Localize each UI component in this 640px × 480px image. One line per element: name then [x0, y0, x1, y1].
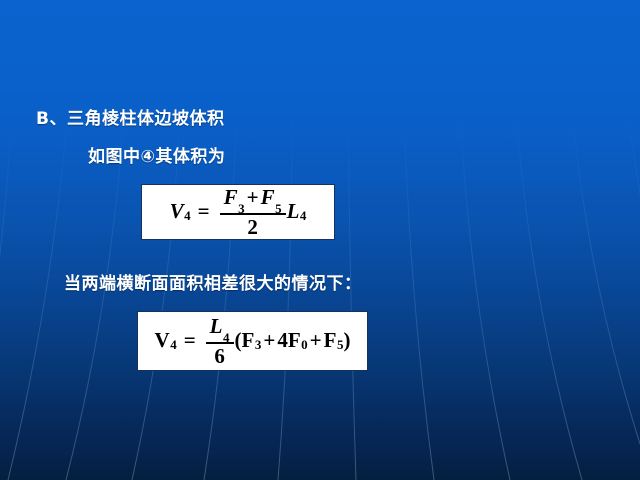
condition-heading: 当两端横断面面积相差很大的情况下：: [64, 269, 362, 294]
formula-1-expression: V4 = F3+F5 2 L4: [170, 186, 307, 238]
formula-2-num-variable: L: [210, 314, 223, 338]
formula-2-term3-variable: F: [324, 328, 337, 353]
formula-2-coefficient: 4: [277, 328, 288, 353]
formula-1-num-term2-variable: F: [261, 185, 275, 209]
formula-2-term2-subscript: 0: [301, 337, 308, 353]
formula-1-multiplier-subscript: 4: [300, 208, 307, 224]
formula-2-term2-variable: F: [288, 328, 301, 353]
formula-1-num-plus: +: [247, 185, 259, 209]
formula-box-volume-prismoidal: V4 = L4 6 (F3+4F0+F5): [137, 311, 368, 371]
formula-2-plus-2: +: [310, 328, 322, 353]
formula-2-expression: V4 = L4 6 (F3+4F0+F5): [155, 315, 351, 367]
formula-1-equals-sign: =: [198, 199, 210, 224]
formula-1-lhs-subscript: 4: [184, 208, 191, 224]
formula-1-denominator: 2: [243, 215, 262, 238]
formula-2-paren-close: ): [343, 328, 350, 353]
formula-2-term3-subscript: 5: [337, 337, 344, 353]
formula-1-lhs-variable: V: [170, 199, 184, 224]
formula-2-paren-open: (: [235, 328, 242, 353]
presentation-slide: B、三角棱柱体边坡体积 如图中④其体积为 V4 = F3+F5 2 L4 当两端…: [0, 0, 640, 480]
formula-1-num-term1-variable: F: [224, 185, 238, 209]
formula-1-multiplier-variable: L: [287, 199, 300, 224]
formula-2-equals-sign: =: [184, 328, 196, 353]
formula-2-num-subscript: 4: [223, 330, 230, 345]
formula-1-numerator: F3+F5: [220, 186, 286, 213]
subtitle-heading: 如图中④其体积为: [88, 142, 225, 167]
formula-1-num-term1-subscript: 3: [238, 201, 245, 216]
formula-1-fraction: F3+F5 2: [220, 186, 286, 238]
formula-2-term1-subscript: 3: [255, 337, 262, 353]
formula-2-lhs-variable: V: [155, 328, 170, 353]
formula-2-term1-variable: F: [242, 328, 255, 353]
formula-2-denominator: 6: [210, 344, 229, 367]
formula-1-num-term2-subscript: 5: [275, 201, 282, 216]
formula-2-plus-1: +: [263, 328, 275, 353]
formula-2-fraction: L4 6: [206, 315, 234, 367]
formula-2-lhs-subscript: 4: [170, 337, 177, 353]
section-heading: B、三角棱柱体边坡体积: [36, 104, 224, 129]
formula-box-volume-average: V4 = F3+F5 2 L4: [141, 184, 335, 240]
background-grid-pattern: [0, 0, 640, 480]
formula-2-numerator: L4: [206, 315, 234, 342]
